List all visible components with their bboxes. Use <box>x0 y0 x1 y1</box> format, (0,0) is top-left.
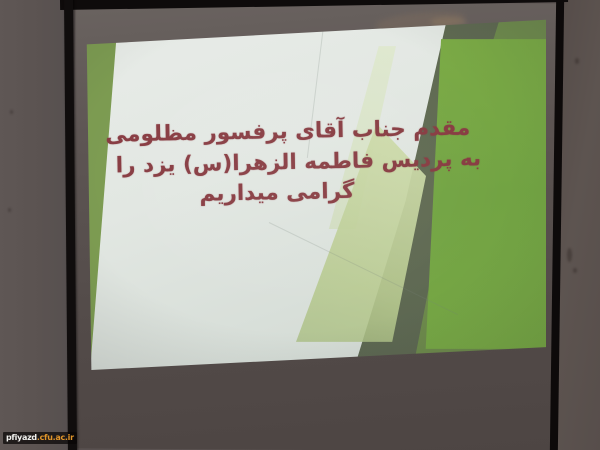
site-watermark: pfiyazd.cfu.ac.ir <box>3 432 77 444</box>
wall-blemish <box>567 248 572 262</box>
slide-canvas: مقدم جناب آقای پرفسور مظلومی به پردیس فا… <box>84 18 546 370</box>
wall-blemish <box>8 208 11 212</box>
wall-blemish <box>573 268 577 273</box>
wall-blemish <box>575 58 579 64</box>
room-wall-right <box>558 0 600 450</box>
screenshot-root: مقدم جناب آقای پرفسور مظلومی به پردیس فا… <box>0 0 600 450</box>
slide-title-text: مقدم جناب آقای پرفسور مظلومی به پردیس فا… <box>102 113 483 212</box>
watermark-prefix: pfiyazd <box>6 433 37 442</box>
projected-slide: مقدم جناب آقای پرفسور مظلومی به پردیس فا… <box>84 18 546 370</box>
watermark-suffix: .cfu.ac.ir <box>37 433 74 442</box>
wall-blemish <box>10 110 13 114</box>
